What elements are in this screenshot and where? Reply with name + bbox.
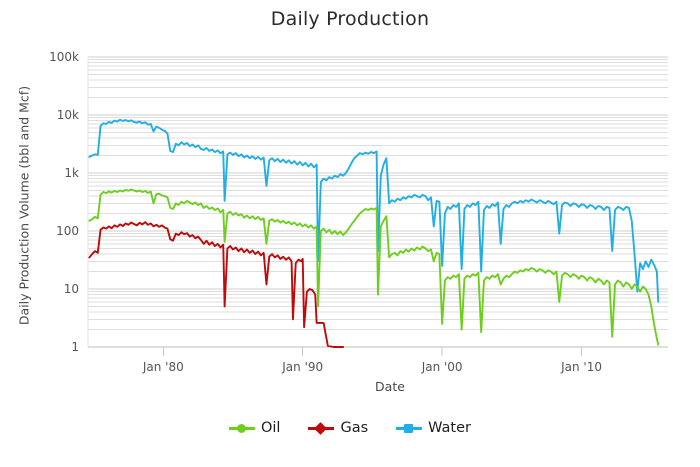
legend-marker-circle-icon [229,422,255,434]
legend-marker-diamond-icon [308,422,334,434]
series-line-oil [89,189,658,344]
legend-marker-square-icon [396,422,422,434]
chart-container: Daily Production Daily Production Volume… [0,0,700,467]
chart-legend: OilGasWater [0,420,700,436]
y-tick-label: 1 [71,340,79,354]
legend-item-water[interactable]: Water [396,420,471,436]
legend-label: Gas [340,420,368,436]
legend-item-oil[interactable]: Oil [229,420,280,436]
y-tick-label: 100k [49,50,79,64]
series-line-gas [89,222,343,347]
x-tick-label: Jan '10 [560,360,602,374]
x-axis-title: Date [90,379,690,394]
plot-area: 100k10k1k100101Jan '80Jan '90Jan '00Jan … [0,0,700,400]
y-tick-label: 10 [64,282,79,296]
legend-item-gas[interactable]: Gas [308,420,368,436]
legend-label: Water [428,420,471,436]
y-tick-label: 100 [56,224,79,238]
x-tick-label: Jan '90 [281,360,323,374]
legend-label: Oil [261,420,280,436]
y-tick-label: 10k [57,108,79,122]
x-tick-label: Jan '00 [421,360,463,374]
y-tick-label: 1k [64,166,79,180]
x-tick-label: Jan '80 [142,360,184,374]
